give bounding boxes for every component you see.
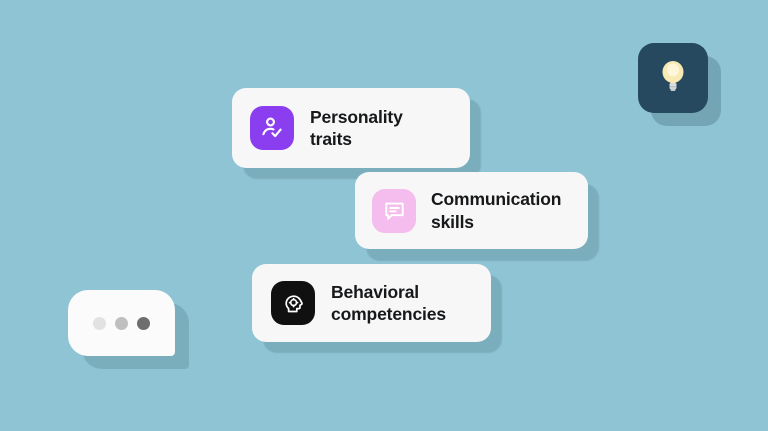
- card-label: Personality traits: [310, 106, 403, 151]
- illustration-canvas: Personality traits Communication skills: [0, 0, 768, 431]
- person-check-icon-tile: [250, 106, 294, 150]
- card-behavioral-competencies[interactable]: Behavioral competencies: [252, 264, 491, 342]
- head-brain-gear-icon: [281, 291, 306, 316]
- card-label: Communication skills: [431, 188, 561, 233]
- chat-bubble-lines-icon-tile: [372, 189, 416, 233]
- lightbulb-tile: [638, 43, 708, 113]
- card-label: Behavioral competencies: [331, 281, 446, 326]
- typing-indicator-bubble: [68, 290, 175, 356]
- typing-dot-1: [93, 317, 106, 330]
- card-communication-skills[interactable]: Communication skills: [355, 172, 588, 249]
- lightbulb-icon: [660, 59, 686, 98]
- person-check-icon: [259, 115, 285, 141]
- card-personality-traits[interactable]: Personality traits: [232, 88, 470, 168]
- typing-dot-2: [115, 317, 128, 330]
- typing-dot-3: [137, 317, 150, 330]
- chat-bubble-lines-icon: [382, 198, 407, 223]
- head-brain-gear-icon-tile: [271, 281, 315, 325]
